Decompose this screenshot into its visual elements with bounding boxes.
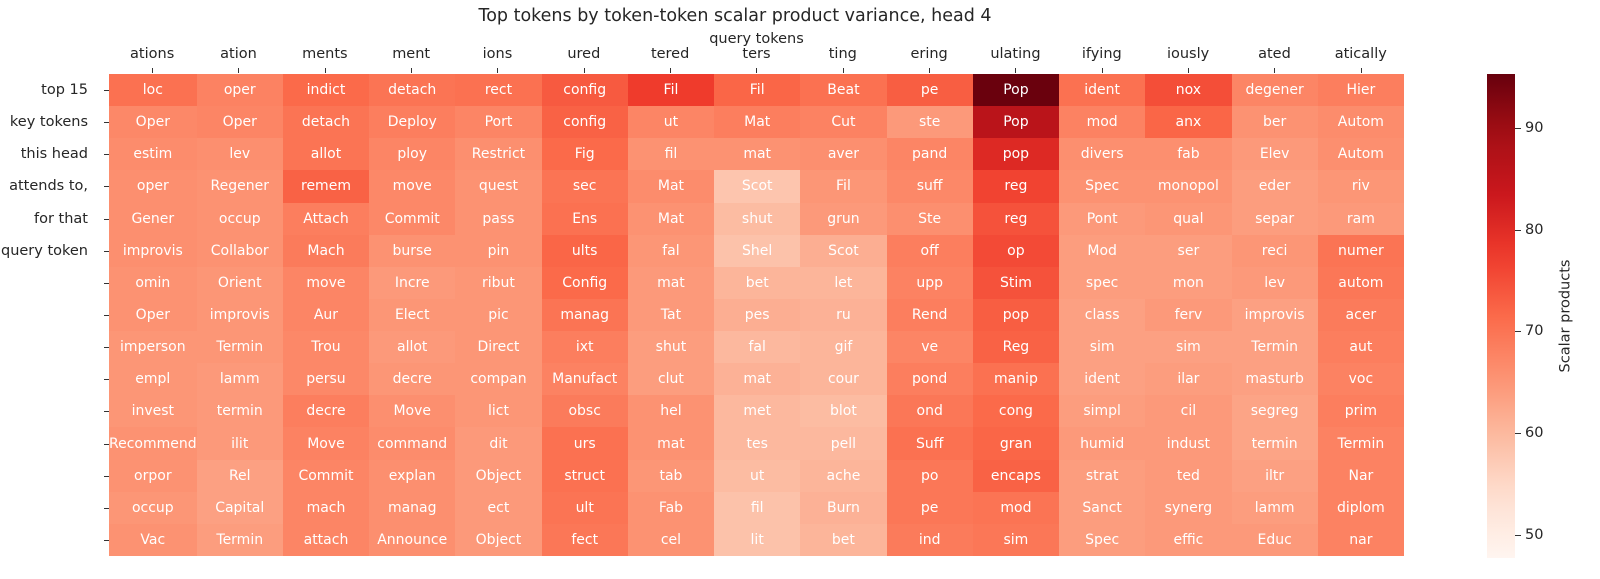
heatmap-cell-label: ram (1347, 212, 1375, 226)
heatmap-cell-label: Object (476, 533, 522, 547)
heatmap-cell-label: compan (470, 372, 526, 386)
heatmap-cell: Sanct (1059, 492, 1145, 524)
heatmap-cell: segreg (1232, 395, 1318, 427)
heatmap-cell: indict (283, 74, 369, 106)
heatmap-cell-label: empl (135, 372, 170, 386)
heatmap-cell: Oper (109, 106, 197, 138)
heatmap-cell: Fig (542, 138, 628, 170)
heatmap-cell: pin (455, 235, 541, 267)
heatmap-cell: Rend (887, 299, 973, 331)
heatmap-cell: Regener (197, 170, 283, 202)
heatmap-cell-label: Spec (1085, 179, 1119, 193)
row-label-8 (0, 331, 94, 363)
heatmap-cell: Aur (283, 299, 369, 331)
heatmap-cell: Restrict (455, 138, 541, 170)
heatmap-cell: Pop (973, 74, 1059, 106)
heatmap-cell: tes (714, 427, 800, 459)
heatmap-cell: ect (455, 492, 541, 524)
heatmap-cell: fal (628, 235, 714, 267)
heatmap-cell: Mach (283, 235, 369, 267)
heatmap-cell-label: humid (1080, 437, 1124, 451)
heatmap-cell-label: mat (657, 437, 685, 451)
heatmap-cell: Commit (369, 203, 455, 235)
heatmap-cell-label: Cut (831, 115, 855, 129)
heatmap-cell-label: nar (1349, 533, 1372, 547)
heatmap-cell: estim (109, 138, 197, 170)
heatmap-cell: Beat (800, 74, 886, 106)
heatmap-cell-label: cour (828, 372, 859, 386)
heatmap-cell: imperson (109, 331, 197, 363)
heatmap-cell: gif (800, 331, 886, 363)
heatmap-cell: obsc (542, 395, 628, 427)
heatmap-cell-label: shut (742, 212, 773, 226)
heatmap-cell: shut (628, 331, 714, 363)
heatmap-cell-label: autom (1338, 276, 1383, 290)
heatmap-cell-label: degener (1246, 83, 1304, 97)
column-label-11: ifying (1059, 46, 1145, 66)
heatmap-cell: ser (1145, 235, 1231, 267)
heatmap-cell: urs (542, 427, 628, 459)
heatmap-cell-label: Recommend (109, 437, 197, 451)
heatmap-cell-label: orpor (134, 469, 172, 483)
heatmap-cell-label: ache (827, 469, 861, 483)
heatmap-cell-label: monopol (1158, 179, 1219, 193)
heatmap-cell: mat (628, 267, 714, 299)
heatmap-cell-label: Gener (131, 212, 174, 226)
heatmap-cell-label: lit (751, 533, 764, 547)
heatmap-cell: Shel (714, 235, 800, 267)
heatmap-cell: grun (800, 203, 886, 235)
heatmap-cell-label: Restrict (472, 147, 525, 161)
row-label-11 (0, 428, 94, 460)
heatmap-cell: off (887, 235, 973, 267)
heatmap-cell-label: pand (912, 147, 947, 161)
heatmap-cell-label: Move (307, 437, 345, 451)
heatmap-cell: bet (714, 267, 800, 299)
heatmap-cell: Mat (714, 106, 800, 138)
colorbar-tick-1 (1515, 230, 1521, 231)
heatmap-cell: detach (283, 106, 369, 138)
heatmap-cell-label: separ (1255, 212, 1294, 226)
heatmap-cell: aver (800, 138, 886, 170)
row-label-10 (0, 395, 94, 427)
heatmap-cell-label: move (306, 276, 345, 290)
heatmap-cell: Commit (283, 460, 369, 492)
heatmap-cell-label: lict (488, 404, 509, 418)
heatmap-cell-label: ste (919, 115, 940, 129)
colorbar-gradient (1487, 74, 1515, 558)
heatmap-cell-label: fab (1177, 147, 1199, 161)
heatmap-cell-label: Attach (303, 212, 348, 226)
heatmap-cell: acer (1318, 299, 1404, 331)
heatmap-cell-label: Termin (1251, 340, 1298, 354)
heatmap-cell-label: ted (1177, 469, 1200, 483)
heatmap-cell-label: Elev (1260, 147, 1290, 161)
heatmap-cell-label: fal (662, 244, 679, 258)
heatmap-cell: remem (283, 170, 369, 202)
heatmap-cell-label: Scot (828, 244, 859, 258)
heatmap-cell-label: ferv (1175, 308, 1203, 322)
heatmap-cell-label: cil (1181, 404, 1196, 418)
heatmap-cell-label: segreg (1251, 404, 1299, 418)
heatmap-cell: Burn (800, 492, 886, 524)
heatmap-cell: Suff (887, 427, 973, 459)
heatmap-cell-label: shut (656, 340, 687, 354)
heatmap-cell-label: remem (301, 179, 351, 193)
heatmap-grid: locoperindictdetachrectconfigFilFilBeatp… (109, 74, 1404, 556)
heatmap-cell: lit (714, 524, 800, 556)
heatmap-cell: Object (455, 524, 541, 556)
heatmap-cell: iltr (1232, 460, 1318, 492)
heatmap-cell-label: attach (304, 533, 349, 547)
heatmap-cell-label: dit (489, 437, 507, 451)
heatmap-cell: ilit (197, 427, 283, 459)
heatmap-cell: allot (369, 331, 455, 363)
heatmap-cell-label: Pop (1003, 115, 1028, 129)
heatmap-cell: termin (1232, 427, 1318, 459)
heatmap-cell-label: Manufact (552, 372, 617, 386)
heatmap-cell-label: Deploy (388, 115, 437, 129)
heatmap-cell: reci (1232, 235, 1318, 267)
heatmap-cell: persu (283, 363, 369, 395)
heatmap-cell-label: Hier (1346, 83, 1375, 97)
heatmap-cell: ploy (369, 138, 455, 170)
heatmap-cell-label: Collabor (211, 244, 269, 258)
heatmap-cell: upp (887, 267, 973, 299)
heatmap-cell: move (283, 267, 369, 299)
heatmap-cell-label: quest (479, 179, 518, 193)
heatmap-cell: Port (455, 106, 541, 138)
heatmap-cell: mat (628, 427, 714, 459)
heatmap-cell-label: pe (921, 83, 939, 97)
heatmap-cell-label: struct (564, 469, 605, 483)
column-label-1: ation (195, 46, 281, 66)
heatmap-cell: aut (1318, 331, 1404, 363)
heatmap-cell-label: decre (393, 372, 432, 386)
row-label-4: for that (0, 203, 94, 235)
heatmap-cell-label: ut (664, 115, 678, 129)
heatmap-cell: riv (1318, 170, 1404, 202)
heatmap-cell: pop (973, 138, 1059, 170)
heatmap-cell-label: pin (488, 244, 510, 258)
heatmap-cell-label: Mod (1087, 244, 1117, 258)
heatmap-cell: cong (973, 395, 1059, 427)
heatmap-cell-label: strat (1086, 469, 1119, 483)
heatmap-cell: sim (1059, 331, 1145, 363)
heatmap-cell: Capital (197, 492, 283, 524)
heatmap-cell-label: oper (224, 83, 256, 97)
heatmap-cell-label: Mat (658, 179, 684, 193)
heatmap-cell: pand (887, 138, 973, 170)
heatmap-cell: mod (1059, 106, 1145, 138)
heatmap-cell: move (369, 170, 455, 202)
heatmap-cell: Tat (628, 299, 714, 331)
heatmap-cell-label: occup (219, 212, 261, 226)
heatmap-cell: manag (542, 299, 628, 331)
column-label-6: tered (627, 46, 713, 66)
heatmap-cell: empl (109, 363, 197, 395)
heatmap-cell: numer (1318, 235, 1404, 267)
heatmap-cell-label: config (563, 83, 606, 97)
heatmap-cell: prim (1318, 395, 1404, 427)
heatmap-cell-label: lamm (1255, 501, 1295, 515)
heatmap-cell-label: Stim (1000, 276, 1032, 290)
heatmap-cell-label: command (377, 437, 447, 451)
heatmap-cell-label: mat (743, 372, 771, 386)
heatmap-cell: pass (455, 203, 541, 235)
heatmap-cell: class (1059, 299, 1145, 331)
x-axis-label: query tokens (109, 31, 1404, 47)
heatmap-cell-label: invest (132, 404, 174, 418)
heatmap-cell-label: acer (1346, 308, 1377, 322)
heatmap-cell-label: Direct (478, 340, 520, 354)
colorbar-label-text: Scalar products (1557, 260, 1573, 373)
heatmap-cell-label: ident (1084, 372, 1120, 386)
heatmap-cell-label: Fig (575, 147, 595, 161)
heatmap-cell: Move (369, 395, 455, 427)
heatmap-cell-label: Config (562, 276, 607, 290)
column-label-10: ulating (972, 46, 1058, 66)
heatmap-cell: decre (283, 395, 369, 427)
heatmap-cell-label: cong (999, 404, 1033, 418)
heatmap-cell-label: ond (917, 404, 943, 418)
heatmap-cell-label: Oper (223, 115, 257, 129)
heatmap-cell-label: Mat (744, 115, 770, 129)
colorbar-axis-label: Scalar products (1555, 74, 1575, 558)
heatmap-cell: mon (1145, 267, 1231, 299)
colorbar-tick-3 (1515, 433, 1521, 434)
heatmap-cell: tab (628, 460, 714, 492)
heatmap-cell-label: pes (745, 308, 770, 322)
column-label-9: ering (886, 46, 972, 66)
heatmap-cell: reg (973, 203, 1059, 235)
heatmap-cell: Rel (197, 460, 283, 492)
heatmap-cell-label: Nar (1348, 469, 1373, 483)
heatmap-cell: Pop (973, 106, 1059, 138)
heatmap-cell-label: allot (311, 147, 341, 161)
heatmap-cell-label: fil (665, 147, 678, 161)
heatmap-cell-label: op (1007, 244, 1024, 258)
row-label-2: this head (0, 138, 94, 170)
heatmap-cell-label: Announce (377, 533, 447, 547)
heatmap-cell: strat (1059, 460, 1145, 492)
heatmap-cell: Termin (197, 524, 283, 556)
heatmap-cell-label: Commit (298, 469, 353, 483)
heatmap-cell-label: ser (1178, 244, 1200, 258)
heatmap-cell: cel (628, 524, 714, 556)
heatmap-cell-label: Incre (395, 276, 430, 290)
colorbar-tick-0 (1515, 128, 1521, 129)
heatmap-cell-label: config (563, 115, 606, 129)
heatmap-cell: fect (542, 524, 628, 556)
heatmap-cell-label: Termin (1338, 437, 1385, 451)
heatmap-cell-label: Fil (836, 179, 851, 193)
heatmap-cell: nox (1145, 74, 1231, 106)
column-label-4: ions (454, 46, 540, 66)
heatmap-cell-label: iltr (1265, 469, 1284, 483)
heatmap-cell: Reg (973, 331, 1059, 363)
heatmap-cell-label: termin (217, 404, 263, 418)
heatmap-cell-label: voc (1349, 372, 1374, 386)
heatmap-cell: cil (1145, 395, 1231, 427)
heatmap-cell: Vac (109, 524, 197, 556)
heatmap-cell-label: Move (393, 404, 431, 418)
heatmap-cell-label: Termin (216, 533, 263, 547)
heatmap-cell-label: Fil (750, 83, 765, 97)
heatmap-cell-label: fect (571, 533, 598, 547)
column-label-3: ment (368, 46, 454, 66)
heatmap-cell: cour (800, 363, 886, 395)
heatmap-cell-label: occup (132, 501, 174, 515)
heatmap-cell: Oper (197, 106, 283, 138)
heatmap-cell-label: ident (1084, 83, 1120, 97)
heatmap-cell-label: sim (1090, 340, 1115, 354)
heatmap-cell-label: gran (1000, 437, 1032, 451)
heatmap-cell-label: mod (1087, 115, 1118, 129)
heatmap-cell-label: ve (921, 340, 938, 354)
heatmap-cell: blot (800, 395, 886, 427)
heatmap-cell-label: pe (921, 501, 939, 515)
heatmap-cell: eder (1232, 170, 1318, 202)
heatmap-cell-label: detach (302, 115, 350, 129)
heatmap-cell: anx (1145, 106, 1231, 138)
heatmap-cell-label: Tat (661, 308, 681, 322)
row-label-9 (0, 363, 94, 395)
heatmap-cell-label: Oper (136, 115, 170, 129)
heatmap-cell-label: pond (912, 372, 947, 386)
heatmap-cell: Oper (109, 299, 197, 331)
heatmap-cell: Termin (1318, 427, 1404, 459)
heatmap-cell-label: Ste (918, 212, 941, 226)
heatmap-cell: lev (197, 138, 283, 170)
heatmap-cell-label: improvis (210, 308, 270, 322)
figure-title: Top tokens by token-token scalar product… (0, 6, 1470, 26)
heatmap-cell-label: sec (573, 179, 597, 193)
heatmap-cell: ident (1059, 74, 1145, 106)
heatmap-cell: simpl (1059, 395, 1145, 427)
heatmap-cell: op (973, 235, 1059, 267)
heatmap-cell: ults (542, 235, 628, 267)
heatmap-cell: encaps (973, 460, 1059, 492)
heatmap-cell-label: riv (1352, 179, 1370, 193)
heatmap-cell-label: clut (658, 372, 684, 386)
heatmap-cell: quest (455, 170, 541, 202)
heatmap-cell: divers (1059, 138, 1145, 170)
heatmap-cell: Mod (1059, 235, 1145, 267)
heatmap-cell-label: persu (306, 372, 345, 386)
heatmap-cell-label: manag (560, 308, 609, 322)
heatmap-cell-label: grun (827, 212, 859, 226)
heatmap-cell: Fil (628, 74, 714, 106)
heatmap-cell-label: Object (476, 469, 522, 483)
heatmap-cell-label: ilar (1177, 372, 1199, 386)
column-label-14: atically (1318, 46, 1404, 66)
heatmap-cell: autom (1318, 267, 1404, 299)
heatmap-cell: ixt (542, 331, 628, 363)
row-label-7 (0, 299, 94, 331)
heatmap-cell-label: mach (307, 501, 346, 515)
heatmap-cell-label: spec (1086, 276, 1119, 290)
heatmap-cell-label: Elect (395, 308, 430, 322)
heatmap-cell: ut (714, 460, 800, 492)
heatmap-cell: mod (973, 492, 1059, 524)
heatmap-cell: ult (542, 492, 628, 524)
heatmap-cell-label: reg (1004, 179, 1027, 193)
heatmap-cell: ache (800, 460, 886, 492)
heatmap-cell: sim (973, 524, 1059, 556)
heatmap-cell-label: mat (743, 147, 771, 161)
heatmap-cell-label: oper (137, 179, 169, 193)
heatmap-cell: ident (1059, 363, 1145, 395)
heatmap-cell-label: Educ (1257, 533, 1291, 547)
heatmap-cell-label: off (921, 244, 939, 258)
heatmap-cell: Mat (628, 170, 714, 202)
colorbar: 9080706050 (1487, 74, 1515, 558)
heatmap-cell-label: let (834, 276, 852, 290)
column-label-2: ments (282, 46, 368, 66)
heatmap-cell-label: tab (659, 469, 682, 483)
heatmap-cell: masturb (1232, 363, 1318, 395)
heatmap-cell-label: ult (576, 501, 594, 515)
heatmap-cell: config (542, 74, 628, 106)
row-label-13 (0, 492, 94, 524)
heatmap-cell-label: lev (1264, 276, 1285, 290)
heatmap-cell: orpor (109, 460, 197, 492)
heatmap-cell: struct (542, 460, 628, 492)
heatmap-cell: voc (1318, 363, 1404, 395)
heatmap-cell: explan (369, 460, 455, 492)
heatmap-cell-label: gif (835, 340, 853, 354)
column-label-12: iously (1145, 46, 1231, 66)
heatmap-cell: nar (1318, 524, 1404, 556)
heatmap-cell: Orient (197, 267, 283, 299)
column-label-7: ters (713, 46, 799, 66)
heatmap-cell-label: po (921, 469, 938, 483)
colorbar-tick-label-1: 80 (1525, 222, 1543, 238)
heatmap-cell-label: met (743, 404, 771, 418)
heatmap-cell-label: omin (135, 276, 170, 290)
heatmap-cell-label: termin (1252, 437, 1298, 451)
heatmap-cell-label: mod (1000, 501, 1031, 515)
heatmap-cell-label: Rend (912, 308, 947, 322)
column-label-13: ated (1231, 46, 1317, 66)
heatmap-cell: Fab (628, 492, 714, 524)
heatmap-cell-label: imperson (120, 340, 186, 354)
heatmap-cell: Announce (369, 524, 455, 556)
heatmap-cell: loc (109, 74, 197, 106)
colorbar-tick-4 (1515, 535, 1521, 536)
heatmap-cell: allot (283, 138, 369, 170)
heatmap-cell-label: Fab (659, 501, 683, 515)
heatmap-cell: monopol (1145, 170, 1231, 202)
heatmap-cell: ut (628, 106, 714, 138)
heatmap-cell: invest (109, 395, 197, 427)
heatmap-cell: Deploy (369, 106, 455, 138)
heatmap-cell-label: decre (306, 404, 345, 418)
heatmap-cell-label: synerg (1165, 501, 1212, 515)
heatmap-cell-label: lamm (220, 372, 260, 386)
heatmap-cell-label: Ens (572, 212, 597, 226)
heatmap-cell: ferv (1145, 299, 1231, 331)
heatmap-cell: Object (455, 460, 541, 492)
heatmap-cell: attach (283, 524, 369, 556)
heatmap-cell: pe (887, 492, 973, 524)
heatmap-cell: humid (1059, 427, 1145, 459)
heatmap-cell: Collabor (197, 235, 283, 267)
heatmap-cell-label: pell (831, 437, 856, 451)
heatmap-cell-label: effic (1173, 533, 1203, 547)
heatmap-cell-label: detach (388, 83, 436, 97)
